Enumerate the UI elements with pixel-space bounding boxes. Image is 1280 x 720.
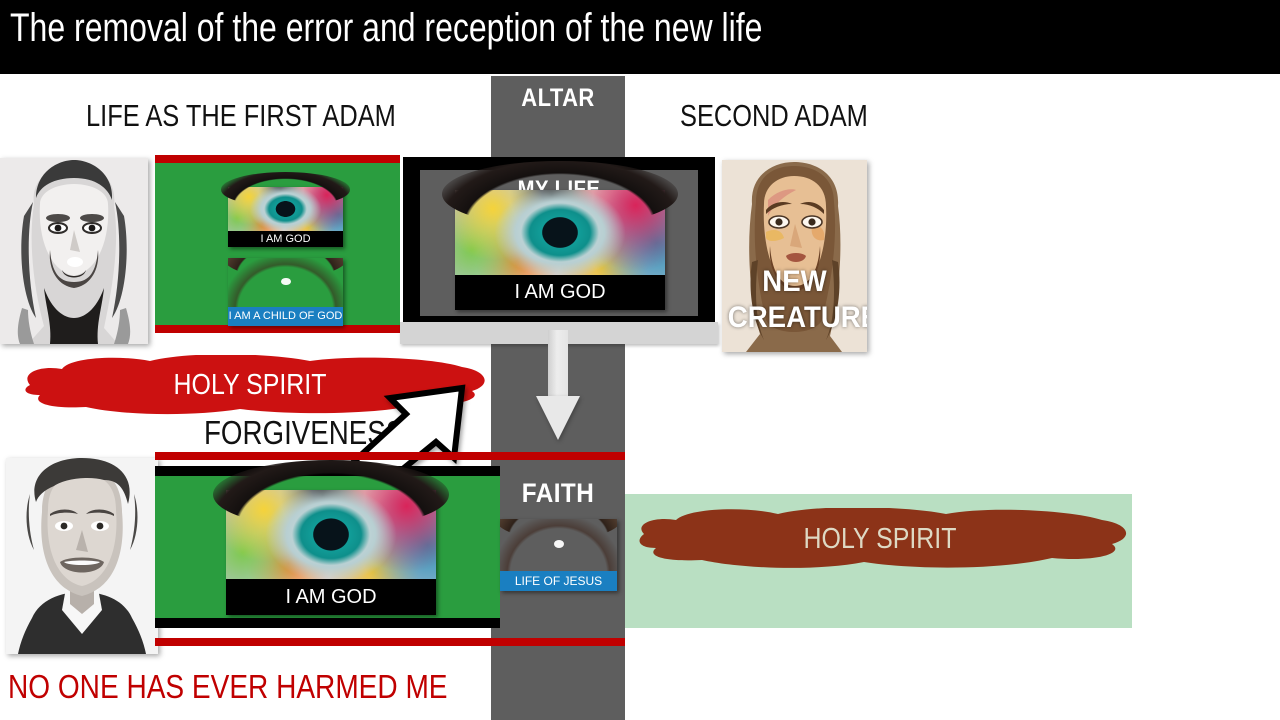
portrait-jesus-colour: NEW CREATURE <box>722 160 867 352</box>
eye-glint <box>554 540 565 548</box>
panel-red-bar-bottom <box>155 638 500 646</box>
new-creature-line2: CREATURE <box>728 300 861 336</box>
heading-second-adam: SECOND ADAM <box>680 98 868 134</box>
altar-red-bar-lower <box>491 638 625 646</box>
panel-red-bar-top <box>155 155 400 163</box>
panel-black-bar-bottom <box>155 618 500 628</box>
card-caption: LIFE OF JESUS <box>500 571 617 591</box>
altar-red-bar-upper <box>491 452 625 460</box>
abstract-eye-image <box>228 187 343 231</box>
faith-title: FAITH <box>498 478 619 509</box>
human-eye-image <box>500 519 617 571</box>
altar-down-arrow-icon <box>536 330 580 440</box>
no-one-harmed-caption: NO ONE HAS EVER HARMED ME <box>8 668 448 706</box>
card-life-of-jesus: LIFE OF JESUS <box>500 519 617 591</box>
slide-canvas: The removal of the error and reception o… <box>0 0 1280 720</box>
card-i-am-a-child-of-god: I AM A CHILD OF GOD <box>228 258 343 326</box>
man-photo-icon <box>6 458 158 654</box>
arrow-shaft <box>548 330 568 402</box>
abstract-eye-image <box>455 190 665 275</box>
slide-title-bar: The removal of the error and reception o… <box>0 0 1280 74</box>
card-i-am-god-bottom: I AM GOD <box>226 490 436 615</box>
card-caption: I AM GOD <box>228 231 343 247</box>
panel-red-bar-bottom <box>155 325 400 333</box>
holy-spirit-brown-cloud: HOLY SPIRIT <box>628 508 1132 570</box>
holy-spirit-brown-label: HOLY SPIRIT <box>663 508 1096 570</box>
panel-black-bar-top <box>155 466 500 476</box>
card-caption: I AM GOD <box>455 275 665 310</box>
new-creature-overlay: NEW CREATURE <box>728 264 861 336</box>
page-title: The removal of the error and reception o… <box>10 6 762 51</box>
portrait-jesus-greyscale <box>0 158 148 344</box>
card-i-am-god-top: I AM GOD <box>228 187 343 247</box>
jesus-sketch-icon <box>0 158 148 344</box>
card-i-am-god-mylife: I AM GOD <box>455 190 665 310</box>
card-caption: I AM GOD <box>226 579 436 615</box>
eye-glint <box>281 278 291 286</box>
card-caption: I AM A CHILD OF GOD <box>228 307 343 326</box>
abstract-eye-image <box>226 490 436 579</box>
panel-red-bar-top <box>155 452 500 460</box>
arrow-head <box>536 396 580 440</box>
heading-first-adam: LIFE AS THE FIRST ADAM <box>86 98 396 134</box>
heading-altar: ALTAR <box>499 84 617 113</box>
new-creature-line1: NEW <box>728 264 861 300</box>
portrait-man-greyscale <box>6 458 158 654</box>
human-eye-image <box>228 258 343 307</box>
